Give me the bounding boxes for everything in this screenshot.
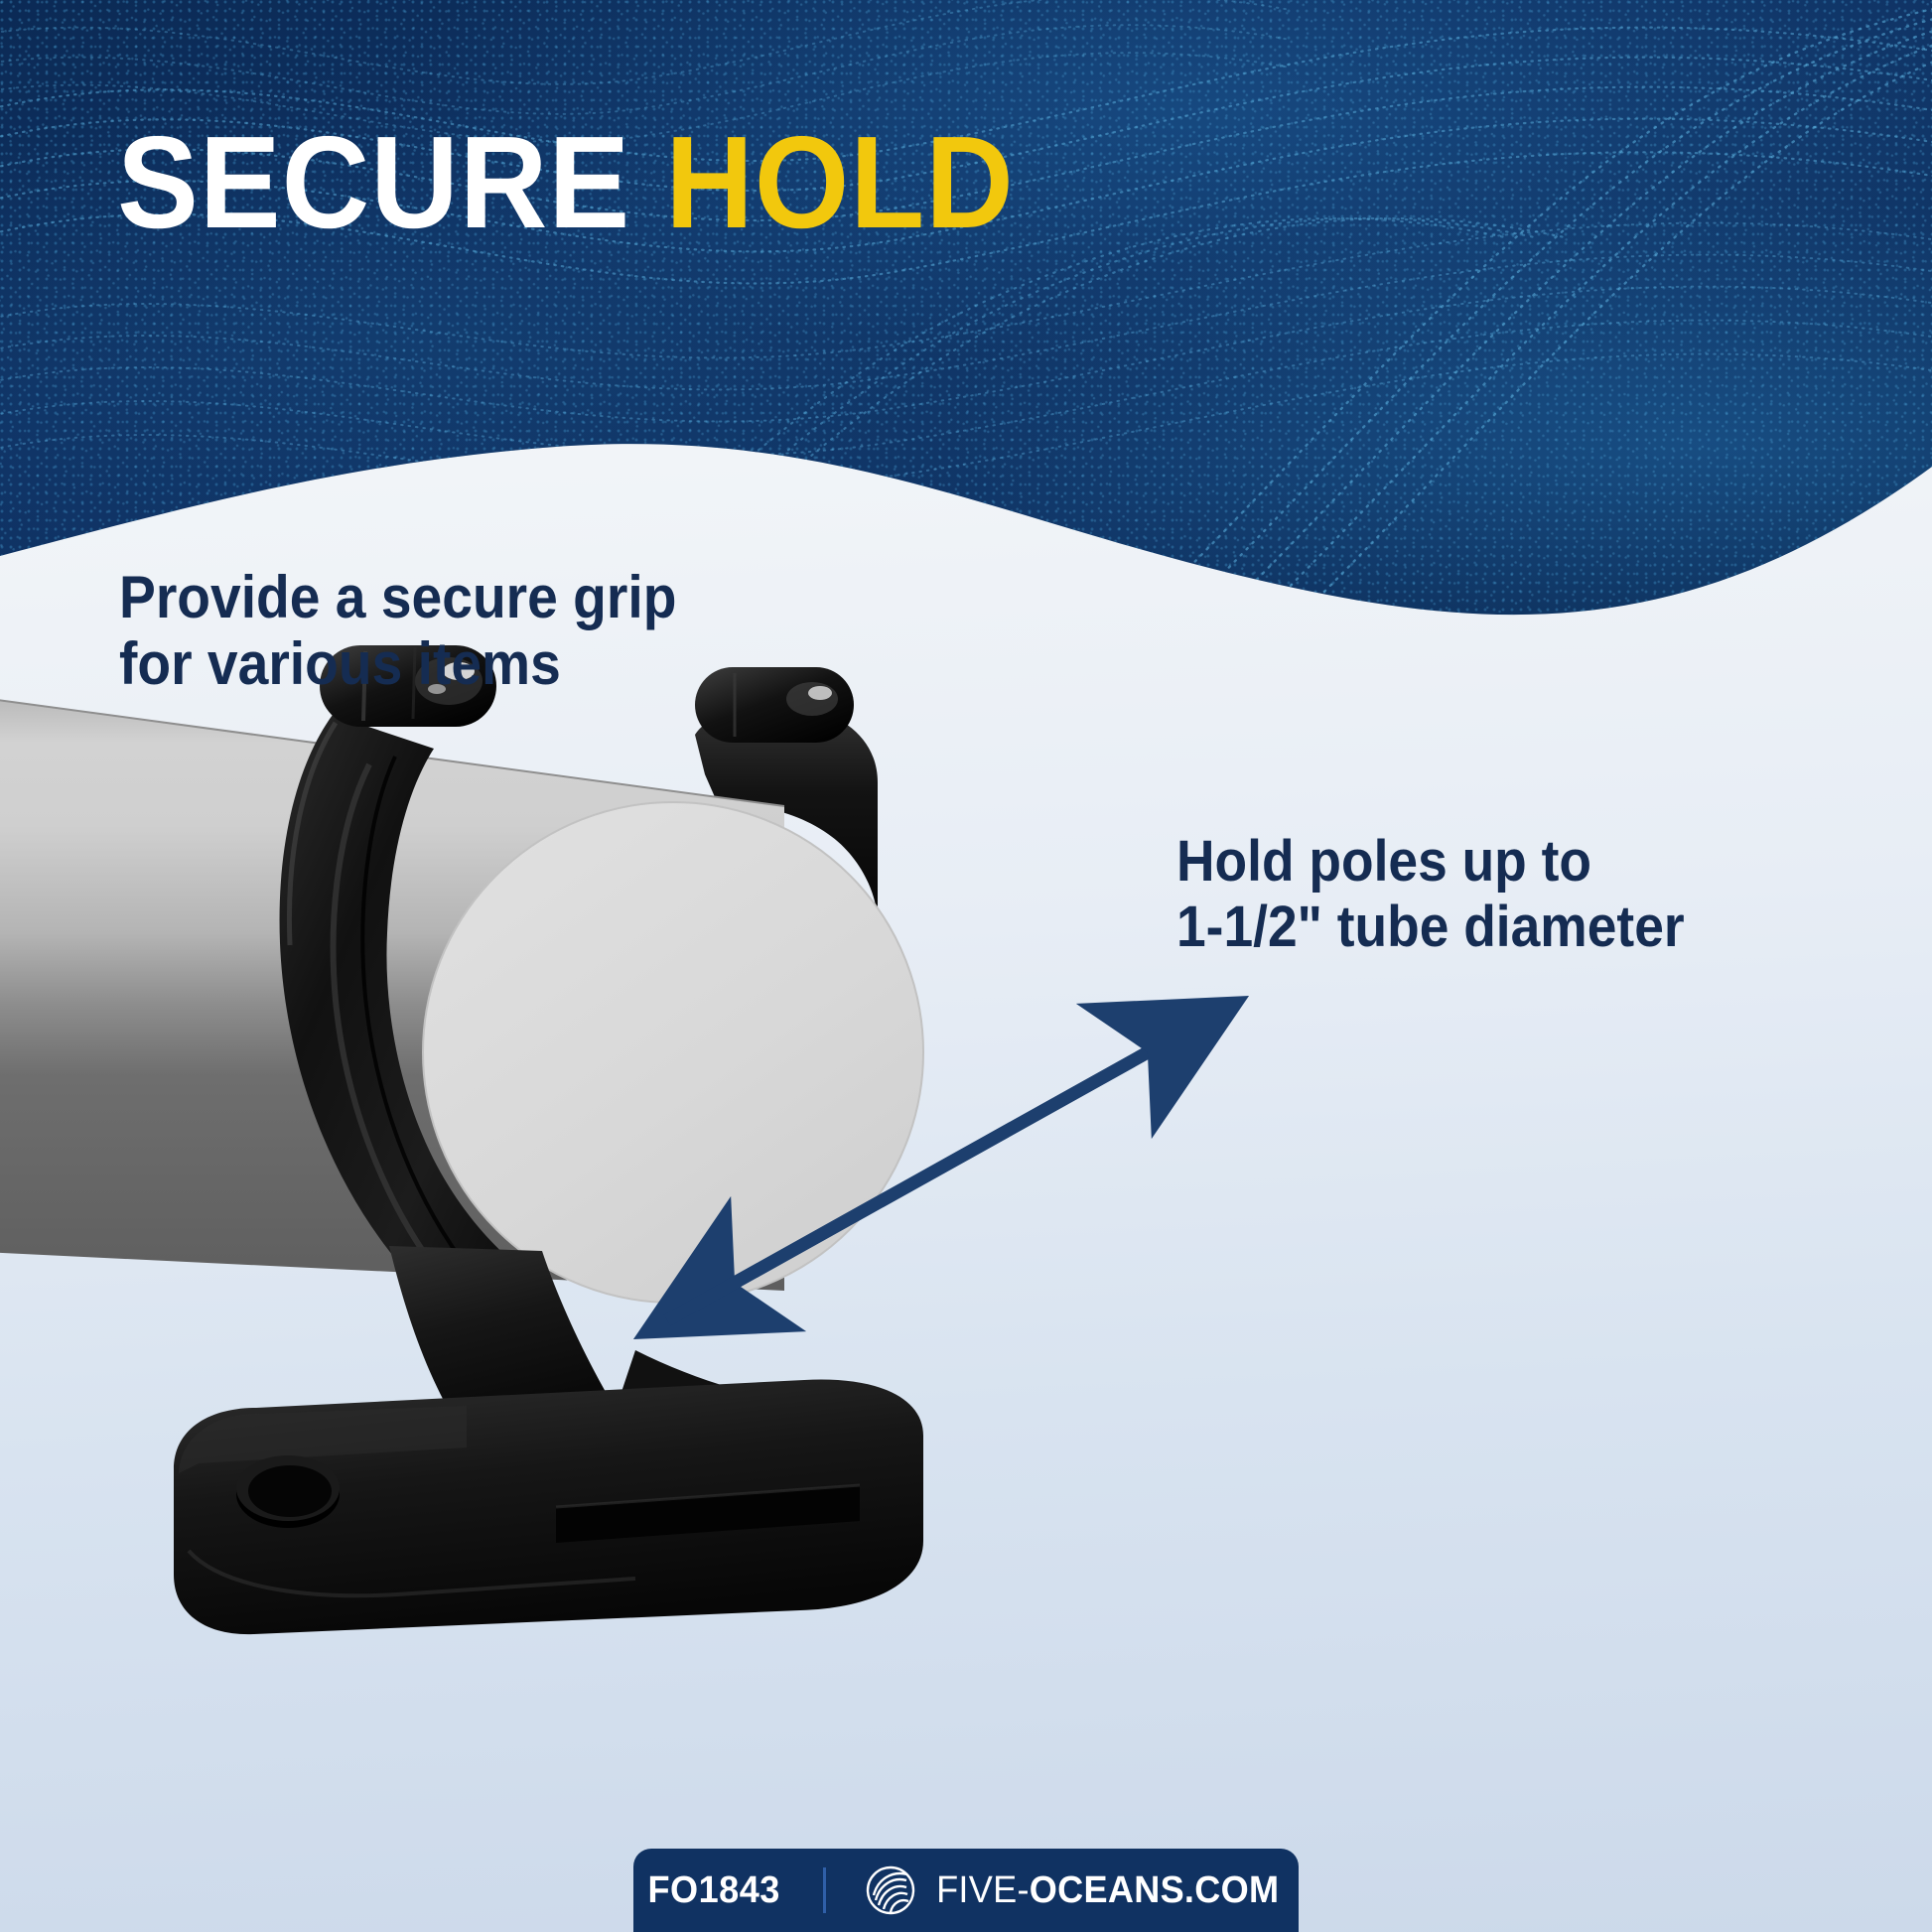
- subtitle-text: Provide a secure grip for various items: [119, 564, 676, 697]
- brand-name: FIVE-OCEANS.COM: [936, 1869, 1279, 1912]
- headline-word-secure: SECURE: [117, 109, 630, 255]
- footer-badge: FO1843 FIVE-OCEANS.COM: [633, 1849, 1299, 1932]
- footer-divider: [823, 1867, 826, 1913]
- page-title: SECURE.HOLD: [117, 117, 1015, 248]
- callout-text: Hold poles up to 1-1/2" tube diameter: [1176, 829, 1685, 960]
- headline-word-hold: HOLD: [665, 109, 1015, 255]
- product-infographic: SECURE.HOLD Provide a secure grip for va…: [0, 0, 1932, 1932]
- shell-wave-logo-icon: [866, 1865, 915, 1915]
- brand-prefix: FIVE-: [936, 1869, 1030, 1911]
- mounting-base: [174, 1246, 923, 1634]
- product-image: [0, 596, 1241, 1906]
- tube-end-face: [423, 802, 923, 1303]
- product-sku: FO1843: [647, 1869, 779, 1912]
- header-wave-graphic: [0, 0, 1932, 616]
- header-banner: [0, 0, 1932, 616]
- brand-suffix: OCEANS.COM: [1030, 1869, 1280, 1911]
